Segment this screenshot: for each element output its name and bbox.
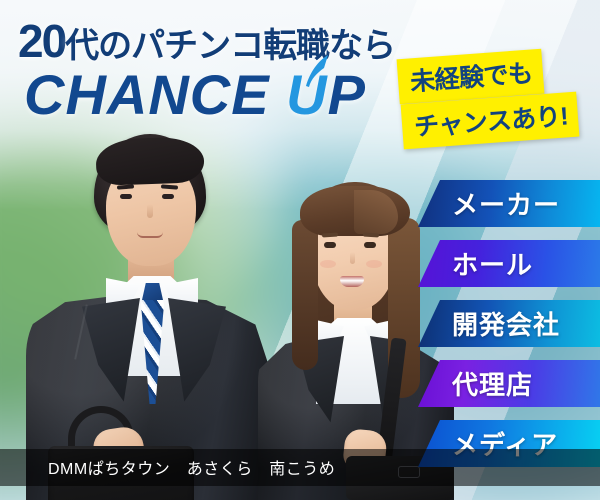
businessman-figure: [22, 128, 272, 500]
woman-cheek-right: [366, 260, 382, 268]
man-eye-right: [162, 194, 174, 199]
category-label-development-company: 開発会社: [418, 305, 560, 342]
category-label-maker: メーカー: [418, 185, 560, 222]
man-eye-left: [120, 194, 132, 199]
category-banner-development-company[interactable]: 開発会社: [418, 300, 600, 347]
logo-text-chance: CHANCE: [24, 63, 286, 126]
logo-text-p: P: [328, 63, 366, 126]
caption-bar: DMMぱちタウン あさくら 南こうめ: [0, 449, 600, 486]
woman-eye-left: [324, 242, 336, 248]
category-label-hall: ホール: [418, 245, 533, 282]
headline-number: 20: [18, 15, 65, 67]
category-label-agency: 代理店: [418, 365, 533, 402]
headline-tail: なら: [329, 27, 395, 65]
man-nose: [147, 204, 153, 218]
woman-cheek-left: [320, 260, 336, 268]
logo-letter-u: U: [286, 63, 327, 126]
logo-letter-u-highlight: U: [286, 62, 327, 127]
headline: 20代のパチンコ転職なら: [18, 14, 395, 68]
man-mouth: [137, 232, 163, 238]
woman-nose: [350, 252, 355, 264]
category-banner-list: メーカー ホール 開発会社 代理店 メディア: [418, 180, 600, 486]
woman-eye-right: [364, 242, 376, 248]
highlight-badge-group: 未経験でも チャンスあり!: [398, 54, 598, 152]
headline-middle: 代のパチンコ転職: [65, 27, 329, 65]
category-banner-hall[interactable]: ホール: [418, 240, 600, 287]
category-banner-agency[interactable]: 代理店: [418, 360, 600, 407]
woman-hair-side-left: [292, 220, 318, 370]
man-hair-fringe: [95, 136, 205, 186]
people-photo-group: [0, 100, 430, 500]
woman-smiling-mouth: [340, 276, 364, 287]
category-banner-maker[interactable]: メーカー: [418, 180, 600, 227]
chance-up-logo: CHANCE UP: [24, 62, 366, 127]
ad-banner[interactable]: 20代のパチンコ転職なら CHANCE UP 未経験でも チャンスあり! メーカ…: [0, 0, 600, 500]
